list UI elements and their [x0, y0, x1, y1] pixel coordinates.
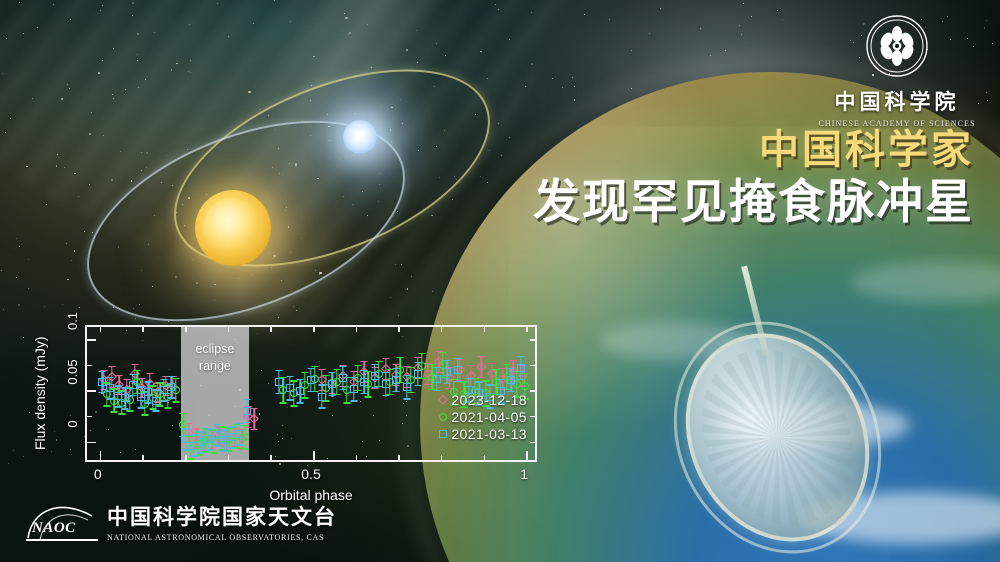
- chart-y-axis-title: Flux density (mJy): [30, 325, 50, 462]
- cas-logo: 中国科学院 CHINESE ACADEMY OF SCIENCES: [812, 14, 982, 128]
- y-tick-label: 0: [65, 420, 80, 427]
- chart-y-tick-labels: 00.050.1: [54, 325, 80, 462]
- binary-star-illustration: [55, 80, 485, 330]
- headline-gold-line: 中国科学家: [533, 128, 974, 172]
- headline: 中国科学家 发现罕见掩食脉冲星: [533, 128, 974, 229]
- chart-plot-area: eclipserange 2023-12-182021-04-052021-03…: [85, 325, 537, 462]
- legend-label: 2021-03-13: [451, 426, 527, 442]
- legend-marker-circle-icon: [435, 410, 451, 424]
- naoc-logo: NAOC 中国科学院国家天文台 NATIONAL ASTRONOMICAL OB…: [26, 500, 337, 542]
- legend-label: 2021-04-05: [451, 409, 527, 425]
- y-tick-label: 0.1: [65, 312, 80, 330]
- naoc-mark-icon: NAOC: [26, 500, 98, 542]
- yellow-companion-star: [195, 190, 271, 266]
- legend-item[interactable]: 2021-04-05: [435, 408, 527, 425]
- pulsar-neutron-star: [343, 120, 377, 154]
- legend-marker-diamond-icon: [435, 393, 451, 407]
- x-tick-label: 0: [94, 466, 102, 482]
- y-tick-label: 0.05: [65, 360, 80, 385]
- legend-label: 2023-12-18: [451, 392, 527, 408]
- cas-name-cn: 中国科学院: [812, 86, 982, 116]
- naoc-name-en: NATIONAL ASTRONOMICAL OBSERVATORIES, CAS: [107, 533, 337, 542]
- naoc-name-cn: 中国科学院国家天文台: [107, 501, 337, 531]
- x-tick-label: 0.5: [301, 466, 320, 482]
- legend-item[interactable]: 2021-03-13: [435, 425, 527, 442]
- chart-legend: 2023-12-182021-04-052021-03-13: [435, 391, 527, 442]
- cas-emblem-icon: [865, 14, 929, 78]
- headline-white-line: 发现罕见掩食脉冲星: [533, 176, 974, 229]
- naoc-underline: [26, 539, 98, 541]
- poster-root: 中国科学院 CHINESE ACADEMY OF SCIENCES 中国科学家 …: [0, 0, 1000, 562]
- legend-marker-square-icon: [435, 427, 451, 441]
- legend-item[interactable]: 2023-12-18: [435, 391, 527, 408]
- eclipse-range-label: eclipserange: [181, 341, 249, 375]
- x-tick-label: 1: [520, 466, 528, 482]
- chart-x-tick-labels: 00.51: [85, 466, 537, 484]
- cas-name-en: CHINESE ACADEMY OF SCIENCES: [812, 119, 982, 128]
- naoc-wordmark: NAOC: [32, 520, 76, 537]
